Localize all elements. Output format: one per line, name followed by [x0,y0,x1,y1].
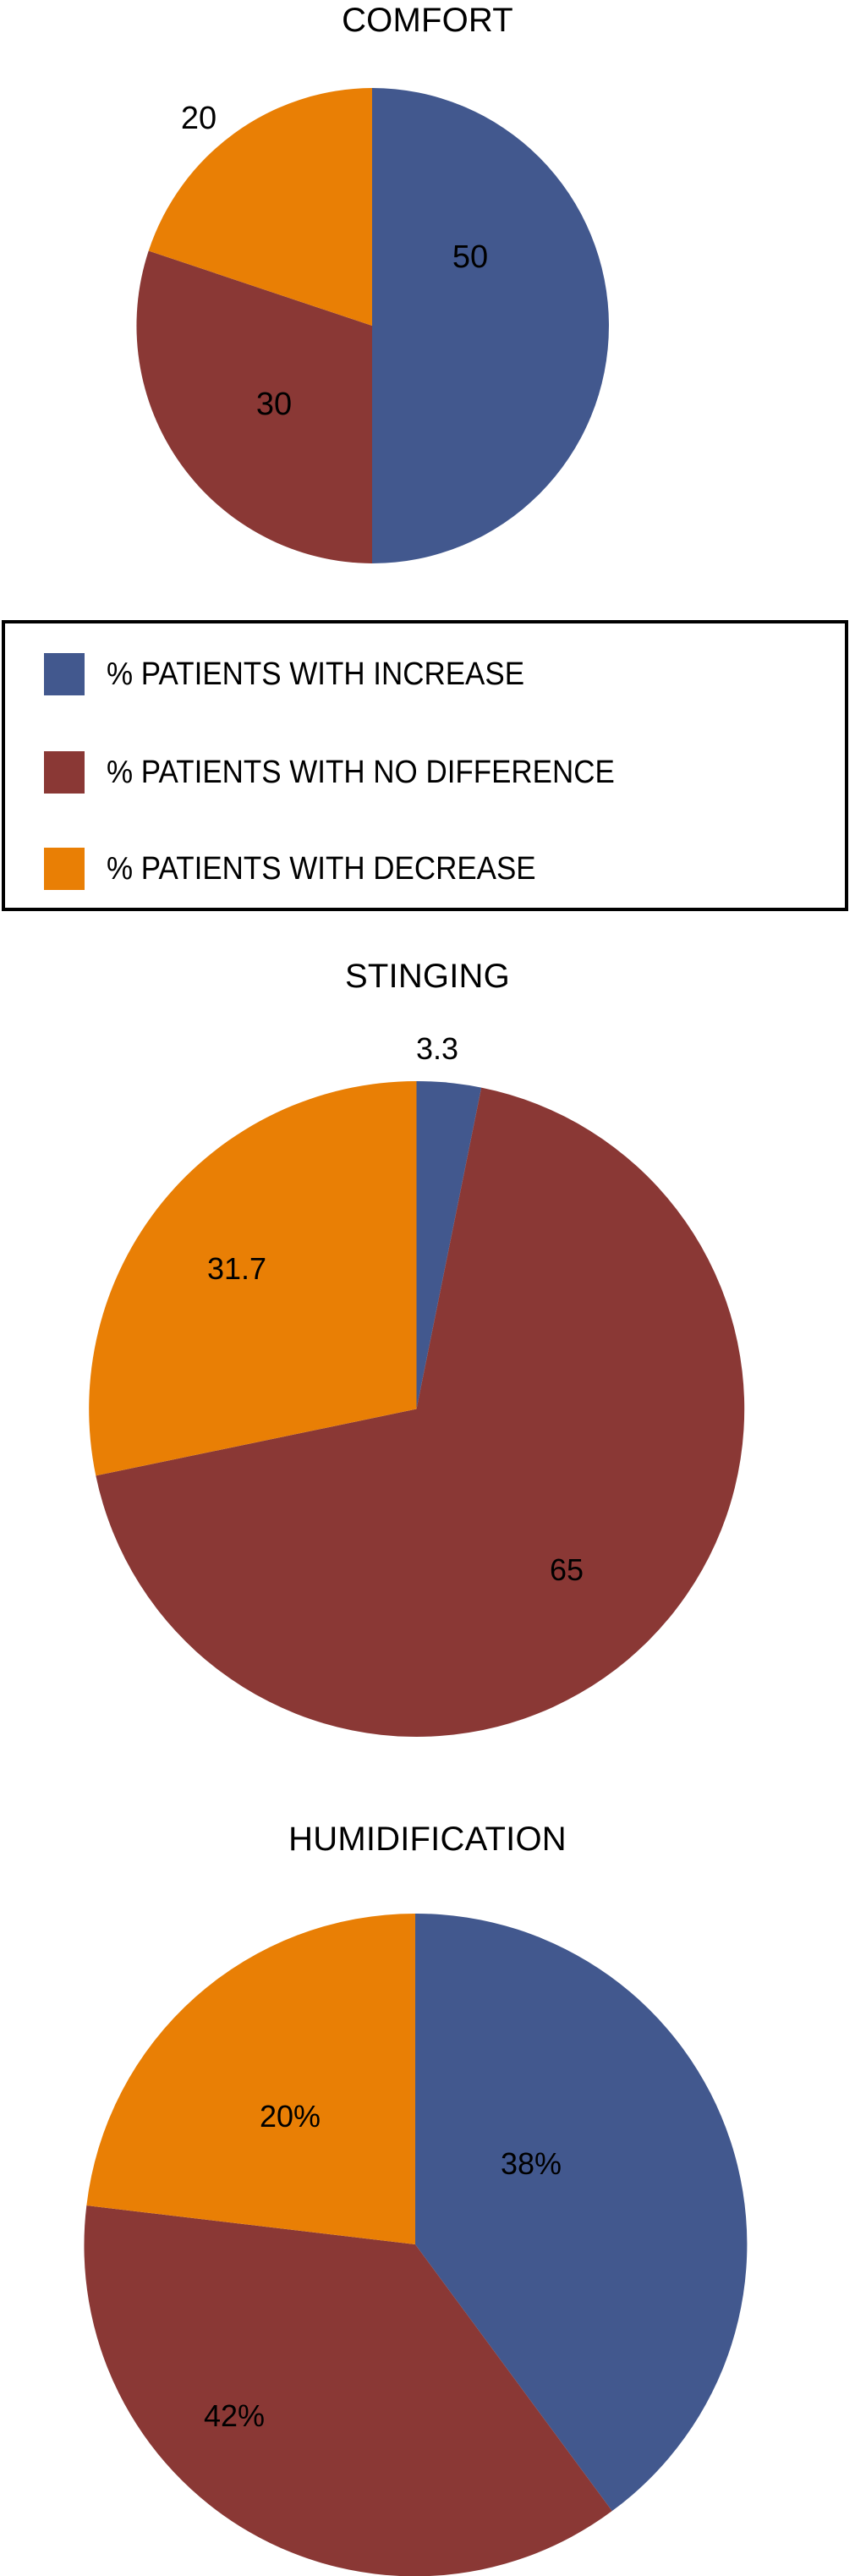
pie-label-stinging-increase: 3.3 [416,1033,458,1065]
pie-chart-figure: COMFORT 50 30 20 % PATIENTS WITH INCREAS… [0,0,855,2576]
legend-label-no-difference: % PATIENTS WITH NO DIFFERENCE [107,755,615,790]
pie-slice-humidification-decrease[interactable] [86,1914,415,2244]
pie-humidification-slices [84,1914,747,2576]
pie-label-humidification-decrease: 20% [260,2101,321,2133]
chart-panel-stinging: STINGING 3.3 65 31.7 [0,956,855,1768]
pie-humidification-svg [85,1914,746,2575]
pie-stinging-slices [89,1081,744,1737]
pie-chart-comfort: 50 30 20 [135,88,609,563]
chart-title-humidification: HUMIDIFICATION [0,1821,855,1858]
chart-legend: % PATIENTS WITH INCREASE % PATIENTS WITH… [2,620,848,911]
legend-item-no-difference[interactable]: % PATIENTS WITH NO DIFFERENCE [5,749,845,796]
chart-panel-humidification: HUMIDIFICATION 38% 42% 20% [0,1819,855,2576]
legend-label-increase: % PATIENTS WITH INCREASE [107,656,524,692]
chart-title-comfort: COMFORT [0,2,855,39]
pie-label-humidification-increase: 38% [501,2148,562,2180]
legend-swatch-increase [44,653,85,695]
pie-chart-humidification: 38% 42% 20% [85,1914,746,2575]
pie-label-humidification-no-difference: 42% [204,2400,265,2432]
pie-label-comfort-no-difference: 30 [256,388,292,420]
pie-comfort-slices [136,88,609,563]
pie-slice-comfort-increase[interactable] [372,88,609,563]
pie-label-stinging-decrease: 31.7 [207,1253,266,1285]
chart-panel-comfort: COMFORT 50 30 20 [0,0,855,592]
pie-label-comfort-decrease: 20 [181,102,216,135]
legend-swatch-no-difference [44,751,85,794]
pie-chart-stinging: 3.3 65 31.7 [89,1081,744,1737]
pie-label-comfort-increase: 50 [452,241,488,273]
legend-swatch-decrease [44,848,85,890]
pie-label-stinging-no-difference: 65 [550,1554,584,1586]
chart-title-stinging: STINGING [0,958,855,995]
pie-stinging-svg [89,1081,744,1737]
pie-comfort-svg [135,88,609,563]
legend-item-increase[interactable]: % PATIENTS WITH INCREASE [5,651,845,698]
legend-item-decrease[interactable]: % PATIENTS WITH DECREASE [5,845,845,893]
legend-label-decrease: % PATIENTS WITH DECREASE [107,851,536,887]
